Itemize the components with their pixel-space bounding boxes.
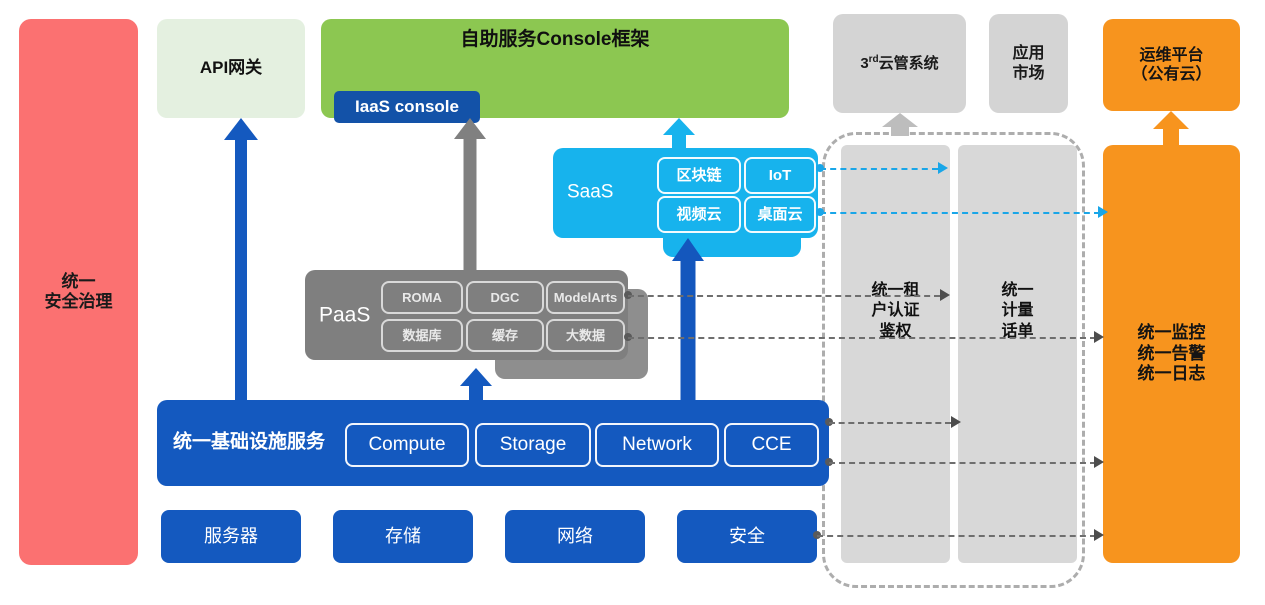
arrow-paas-to-console <box>454 118 486 270</box>
arrowhead-infra-to-auth <box>951 416 961 428</box>
unified-security-panel: 统一 安全治理 <box>19 19 138 565</box>
saas-layer-label: SaaS <box>567 182 613 205</box>
saas-item-blockchain[interactable]: 区块链 <box>657 157 741 194</box>
arrowhead-saas-to-monitoring <box>1098 206 1108 218</box>
arrow-infra-to-paas <box>460 368 492 400</box>
hardware-server-box[interactable]: 服务器 <box>161 510 301 563</box>
unified-tenant-auth-column <box>841 145 950 563</box>
unified-monitoring-label: 统一监控 统一告警 统一日志 <box>1138 323 1206 384</box>
arrow-shared-to-third-party <box>882 113 918 136</box>
unified-security-label: 统一 安全治理 <box>45 272 113 313</box>
paas-item-cache[interactable]: 缓存 <box>466 319 544 352</box>
unified-billing-column <box>958 145 1077 563</box>
saas-item-desktop-cloud[interactable]: 桌面云 <box>744 196 816 233</box>
ops-platform-public-cloud-box: 运维平台 （公有云） <box>1103 19 1240 111</box>
architecture-diagram: 统一 安全治理 API网关 自助服务Console框架 IaaS console… <box>0 0 1265 605</box>
saas-item-video-cloud[interactable]: 视频云 <box>657 196 741 233</box>
third-party-suffix: 云管系统 <box>879 55 939 72</box>
infra-service-network[interactable]: Network <box>595 423 719 467</box>
arrowhead-paas-to-auth <box>940 289 950 301</box>
hardware-network-box[interactable]: 网络 <box>505 510 645 563</box>
api-gateway-label: API网关 <box>200 58 262 78</box>
unified-billing-label: 统一 计量 话单 <box>958 281 1077 342</box>
unified-infrastructure-box: 统一基础设施服务 Compute Storage Network CCE <box>157 400 829 486</box>
unified-monitoring-panel: 统一监控 统一告警 统一日志 <box>1103 145 1240 563</box>
connector-paas-to-monitoring <box>628 337 1096 339</box>
ops-platform-label: 运维平台 （公有云） <box>1131 46 1211 84</box>
paas-item-database[interactable]: 数据库 <box>381 319 463 352</box>
arrow-infra-to-api-gateway <box>224 118 258 400</box>
arrowhead-paas-to-monitoring <box>1094 331 1104 343</box>
arrowhead-saas-to-auth <box>938 162 948 174</box>
connector-saas-to-monitoring <box>820 212 1100 214</box>
hardware-security-box[interactable]: 安全 <box>677 510 817 563</box>
unified-tenant-auth-label: 统一租 户认证 鉴权 <box>841 281 950 342</box>
arrow-monitoring-to-ops-platform <box>1153 111 1189 146</box>
self-service-console-frame: 自助服务Console框架 IaaS console PaaS console … <box>321 19 789 118</box>
infra-service-storage[interactable]: Storage <box>475 423 591 467</box>
saas-item-iot[interactable]: IoT <box>744 157 816 194</box>
infra-service-compute[interactable]: Compute <box>345 423 469 467</box>
arrow-saas-to-console <box>663 118 695 148</box>
connector-infra-to-auth <box>829 422 951 424</box>
connector-paas-to-auth <box>628 295 940 297</box>
saas-layer-box: SaaS 区块链 IoT 视频云 桌面云 <box>553 148 818 238</box>
paas-layer-box: PaaS ROMA DGC ModelArts 数据库 缓存 大数据 <box>305 270 628 360</box>
arrowhead-infra-to-monitoring <box>1094 456 1104 468</box>
paas-item-roma[interactable]: ROMA <box>381 281 463 314</box>
paas-layer-label: PaaS <box>319 302 370 327</box>
arrow-infra-to-saas <box>672 238 704 400</box>
unified-infrastructure-label: 统一基础设施服务 <box>173 432 325 455</box>
hardware-storage-box[interactable]: 存储 <box>333 510 473 563</box>
paas-item-bigdata[interactable]: 大数据 <box>546 319 625 352</box>
api-gateway-box: API网关 <box>157 19 305 118</box>
infra-service-cce[interactable]: CCE <box>724 423 819 467</box>
paas-item-modelarts[interactable]: ModelArts <box>546 281 625 314</box>
console-frame-title: 自助服务Console框架 <box>321 29 789 52</box>
connector-hardware-to-monitoring <box>817 535 1096 537</box>
arrowhead-hardware-to-monitoring <box>1094 529 1104 541</box>
third-party-prefix: 3 <box>860 55 868 72</box>
connector-saas-to-auth <box>820 168 938 170</box>
third-party-cloud-mgmt-box: 3rd云管系统 <box>833 14 966 113</box>
third-party-label: 3rd云管系统 <box>860 54 938 73</box>
app-market-label: 应用 市场 <box>1012 44 1044 82</box>
paas-item-dgc[interactable]: DGC <box>466 281 544 314</box>
third-party-superscript: rd <box>869 54 879 65</box>
connector-infra-to-monitoring <box>829 462 1096 464</box>
app-market-box: 应用 市场 <box>989 14 1068 113</box>
